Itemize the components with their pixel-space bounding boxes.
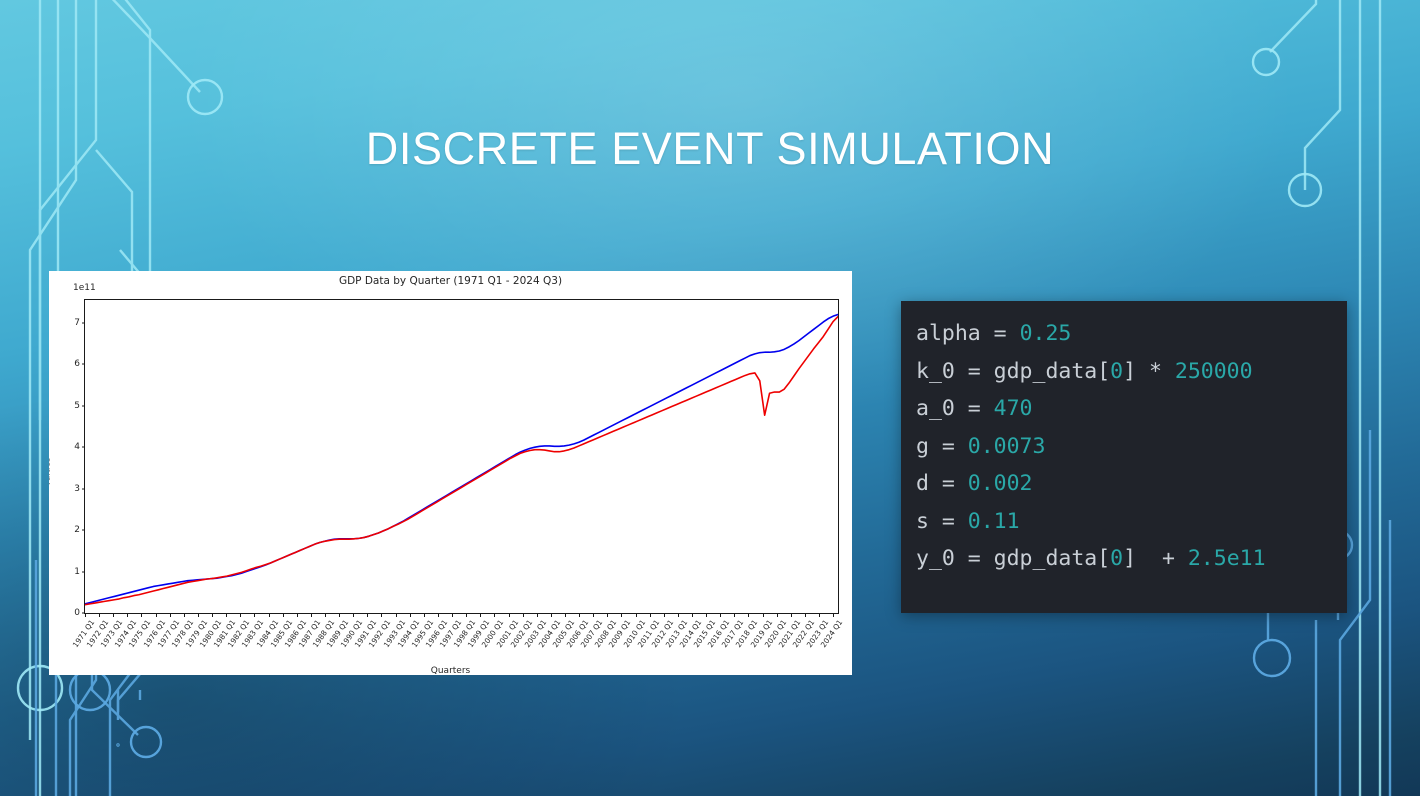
chart-figure: GDP Data by Quarter (1971 Q1 - 2024 Q3) …	[49, 271, 852, 675]
chart-x-tick-mark	[706, 613, 707, 617]
code-variable-name: a_0 =	[916, 396, 994, 421]
chart-x-tick-mark	[156, 613, 157, 617]
chart-y-offset-text: 1e11	[73, 283, 96, 293]
chart-x-tick-mark	[537, 613, 538, 617]
chart-y-tick-label: 0	[74, 608, 80, 618]
code-variable-name: d =	[916, 471, 968, 496]
code-number-literal: 0.11	[968, 509, 1020, 534]
chart-x-tick-mark	[339, 613, 340, 617]
chart-x-tick-mark	[607, 613, 608, 617]
chart-x-tick-mark	[593, 613, 594, 617]
chart-x-tick-mark	[650, 613, 651, 617]
chart-x-tick-mark	[466, 613, 467, 617]
chart-x-tick-mark	[791, 613, 792, 617]
chart-x-tick-mark	[367, 613, 368, 617]
chart-x-tick-mark	[184, 613, 185, 617]
chart-x-tick-mark	[551, 613, 552, 617]
chart-y-tick-label: 1	[74, 567, 80, 577]
chart-y-axis-label: Values	[49, 457, 53, 486]
chart-x-tick-mark	[99, 613, 100, 617]
chart-x-tick-mark	[226, 613, 227, 617]
code-number-literal: 0.0073	[968, 434, 1046, 459]
code-number-literal: 0	[1110, 359, 1123, 384]
chart-x-tick-mark	[198, 613, 199, 617]
chart-x-tick-mark	[297, 613, 298, 617]
code-variable-name: g =	[916, 434, 968, 459]
chart-x-tick-mark	[396, 613, 397, 617]
code-line: alpha = 0.25	[901, 315, 1347, 353]
code-number-literal: 470	[994, 396, 1033, 421]
code-token: ] +	[1123, 546, 1188, 571]
code-number-literal: 2.5e11	[1188, 546, 1266, 571]
code-number-literal: 0.25	[1020, 321, 1072, 346]
chart-x-tick-mark	[494, 613, 495, 617]
chart-y-tick-mark	[82, 530, 86, 531]
code-line: a_0 = 470	[901, 390, 1347, 428]
chart-x-tick-mark	[664, 613, 665, 617]
chart-x-tick-mark	[819, 613, 820, 617]
chart-x-tick-mark	[565, 613, 566, 617]
chart-x-tick-mark	[480, 613, 481, 617]
chart-x-tick-mark	[805, 613, 806, 617]
chart-y-tick-label: 4	[74, 442, 80, 452]
code-snippet-panel: alpha = 0.25k_0 = gdp_data[0] * 250000a_…	[901, 301, 1347, 613]
chart-x-tick-mark	[763, 613, 764, 617]
chart-title: GDP Data by Quarter (1971 Q1 - 2024 Q3)	[49, 275, 852, 287]
code-variable-name: s =	[916, 509, 968, 534]
code-line: s = 0.11	[901, 503, 1347, 541]
chart-y-tick-label: 6	[74, 359, 80, 369]
chart-x-tick-mark	[283, 613, 284, 617]
chart-x-tick-mark	[269, 613, 270, 617]
chart-x-tick-mark	[141, 613, 142, 617]
code-variable-name: alpha =	[916, 321, 1020, 346]
code-number-literal: 0	[1110, 546, 1123, 571]
code-token: gdp_data[	[994, 546, 1111, 571]
chart-x-tick-mark	[636, 613, 637, 617]
code-token: ] *	[1123, 359, 1175, 384]
chart-x-tick-mark	[212, 613, 213, 617]
chart-x-tick-mark	[734, 613, 735, 617]
chart-x-tick-mark	[170, 613, 171, 617]
chart-x-tick-mark	[692, 613, 693, 617]
chart-y-tick-mark	[82, 447, 86, 448]
chart-y-tick-label: 5	[74, 401, 80, 411]
chart-x-tick-mark	[381, 613, 382, 617]
chart-x-tick-mark	[678, 613, 679, 617]
chart-x-tick-mark	[509, 613, 510, 617]
chart-x-axis-label: Quarters	[49, 666, 852, 675]
chart-line-gdp_data	[85, 317, 838, 605]
code-line: y_0 = gdp_data[0] + 2.5e11	[901, 540, 1347, 578]
chart-y-tick-mark	[82, 322, 86, 323]
chart-series-canvas	[85, 300, 838, 613]
page-title: DISCRETE EVENT SIMULATION	[0, 123, 1420, 175]
chart-y-tick-mark	[82, 571, 86, 572]
chart-x-tick-mark	[85, 613, 86, 617]
chart-x-tick-mark	[353, 613, 354, 617]
chart-x-tick-mark	[254, 613, 255, 617]
chart-x-tick-mark	[720, 613, 721, 617]
chart-x-tick-mark	[438, 613, 439, 617]
code-variable-name: k_0 =	[916, 359, 994, 384]
chart-x-tick-mark	[113, 613, 114, 617]
chart-x-tick-mark	[452, 613, 453, 617]
chart-x-tick-mark	[424, 613, 425, 617]
chart-y-tick-mark	[82, 364, 86, 365]
code-line: d = 0.002	[901, 465, 1347, 503]
chart-x-tick-mark	[579, 613, 580, 617]
code-number-literal: 0.002	[968, 471, 1033, 496]
chart-plot-area: 012345671971 Q11972 Q11973 Q11974 Q11975…	[84, 299, 839, 614]
code-variable-name: y_0 =	[916, 546, 994, 571]
chart-x-tick-mark	[311, 613, 312, 617]
code-line: k_0 = gdp_data[0] * 250000	[901, 353, 1347, 391]
chart-x-tick-mark	[621, 613, 622, 617]
chart-x-tick-mark	[240, 613, 241, 617]
code-number-literal: 250000	[1175, 359, 1253, 384]
chart-y-tick-mark	[82, 405, 86, 406]
chart-x-tick-mark	[325, 613, 326, 617]
code-token: gdp_data[	[994, 359, 1111, 384]
chart-line-simulated	[85, 315, 838, 604]
chart-y-tick-label: 7	[74, 318, 80, 328]
chart-x-tick-mark	[127, 613, 128, 617]
chart-x-tick-mark	[833, 613, 834, 617]
code-line: g = 0.0073	[901, 428, 1347, 466]
presentation-slide: DISCRETE EVENT SIMULATION GDP Data by Qu…	[0, 0, 1420, 796]
chart-y-tick-label: 3	[74, 484, 80, 494]
chart-x-tick-mark	[410, 613, 411, 617]
chart-y-tick-mark	[82, 488, 86, 489]
chart-x-tick-mark	[748, 613, 749, 617]
chart-y-tick-label: 2	[74, 525, 80, 535]
chart-x-tick-mark	[523, 613, 524, 617]
chart-x-tick-mark	[777, 613, 778, 617]
